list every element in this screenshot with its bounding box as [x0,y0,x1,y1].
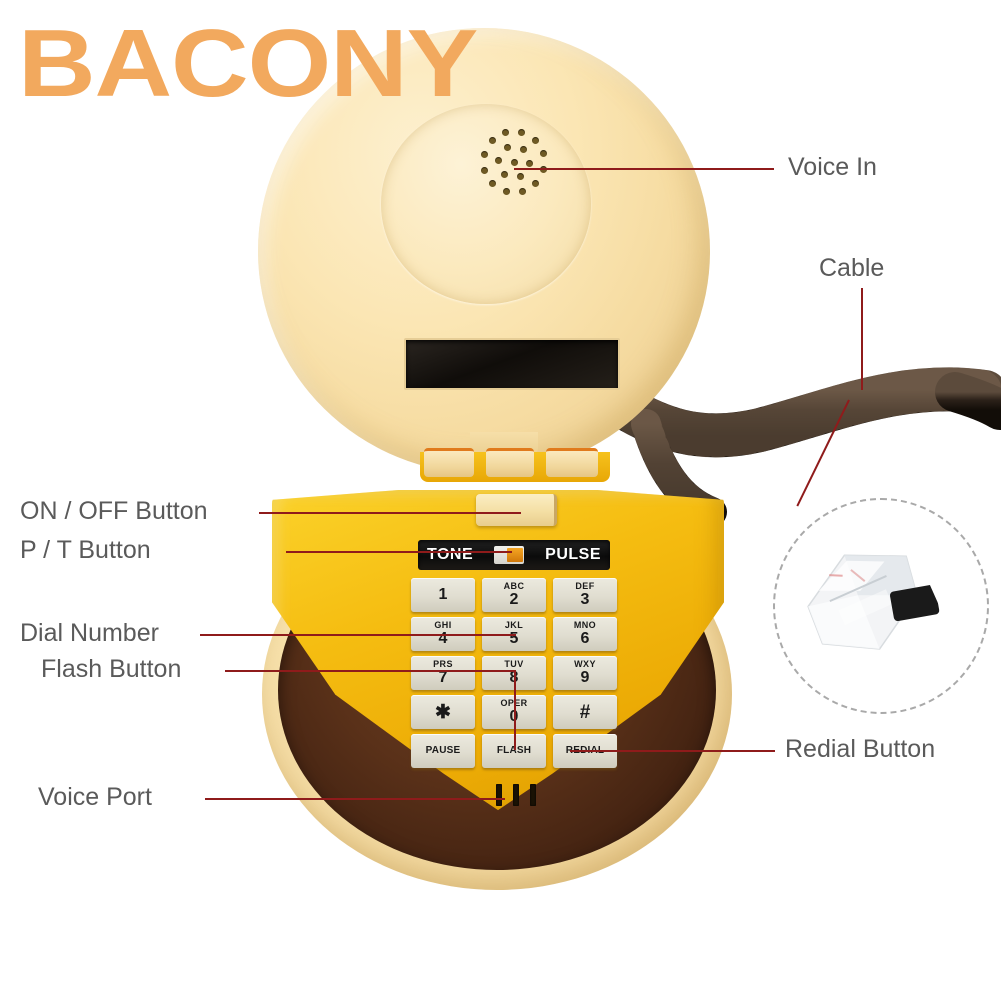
voice-port-slot [513,784,519,806]
leader-flash-horizontal [225,670,516,672]
callout-voice-in: Voice In [788,153,877,182]
key-6[interactable]: MNO6 [553,617,617,651]
key-letters: GHI [434,621,451,630]
callout-dial: Dial Number [20,619,159,648]
key-1[interactable]: 1 [411,578,475,612]
callout-flash: Flash Button [41,655,181,684]
leader-voice-in [514,168,774,170]
speaker-hole [502,129,509,136]
hinge-knuckle-right [546,448,598,477]
key-2[interactable]: ABC2 [482,578,546,612]
leader-on-off [259,512,521,514]
key-digit: ✱ [435,703,451,722]
speaker-grille-icon [470,118,558,206]
speaker-hole [517,173,524,180]
key-pause[interactable]: PAUSE [411,734,475,768]
speaker-hole [511,159,518,166]
key-7[interactable]: PRS7 [411,656,475,690]
leader-cable [861,288,863,390]
speaker-hole [495,157,502,164]
product-infographic: BACONY [0,0,1001,1001]
p-t-switch-slider[interactable] [494,546,524,564]
key-3[interactable]: DEF3 [553,578,617,612]
tone-pulse-switch-strip[interactable]: TONE PULSE [418,540,610,570]
key-letters: PRS [433,660,453,669]
leader-p-t [286,551,512,553]
speaker-hole [481,167,488,174]
key-letters: MNO [574,621,596,630]
key-digit: 3 [581,592,590,608]
leader-flash-vertical [514,670,516,750]
voice-port-slot [496,784,502,806]
callout-cable: Cable [819,254,884,283]
speaker-hole [489,180,496,187]
voice-port-slots [496,784,536,806]
lid-dark-slot [404,338,620,390]
callout-p-t: P / T Button [20,536,151,565]
speaker-hole [532,137,539,144]
hinge-knuckle-mid [486,448,534,477]
key-digit: 9 [581,670,590,686]
on-off-button[interactable] [476,494,557,526]
key-letters: ABC [504,582,525,591]
key-digit: # [580,703,591,722]
speaker-hole [481,151,488,158]
callout-on-off: ON / OFF Button [20,497,208,526]
callout-voice-port: Voice Port [38,783,152,812]
key-digit: 1 [439,587,448,603]
key-label: PAUSE [426,746,461,756]
rj11-connector-icon [785,521,950,681]
voice-port-slot [530,784,536,806]
key-letters: DEF [575,582,594,591]
speaker-hole [501,171,508,178]
key-letters: JKL [505,621,523,630]
speaker-hole [518,129,525,136]
key-letters: TUV [504,660,523,669]
speaker-hole [540,150,547,157]
pulse-label: PULSE [545,546,601,564]
callout-redial: Redial Button [785,735,935,764]
speaker-hole [526,160,533,167]
leader-redial [570,750,775,752]
key-digit: 7 [439,670,448,686]
leader-dial-number [200,634,516,636]
connector-detail-inset [773,498,989,714]
key-9[interactable]: WXY9 [553,656,617,690]
key-letters: WXY [574,660,596,669]
key-digit: 6 [581,631,590,647]
hinge-knuckle-left [424,448,474,477]
tone-label: TONE [427,546,473,564]
speaker-hole [504,144,511,151]
brand-watermark: BACONY [18,16,477,112]
key-hash[interactable]: # [553,695,617,729]
key-star[interactable]: ✱ [411,695,475,729]
key-digit: 2 [510,592,519,608]
speaker-hole [503,188,510,195]
speaker-hole [519,188,526,195]
leader-voice-port [205,798,505,800]
speaker-hole [489,137,496,144]
speaker-hole [520,146,527,153]
speaker-hole [532,180,539,187]
